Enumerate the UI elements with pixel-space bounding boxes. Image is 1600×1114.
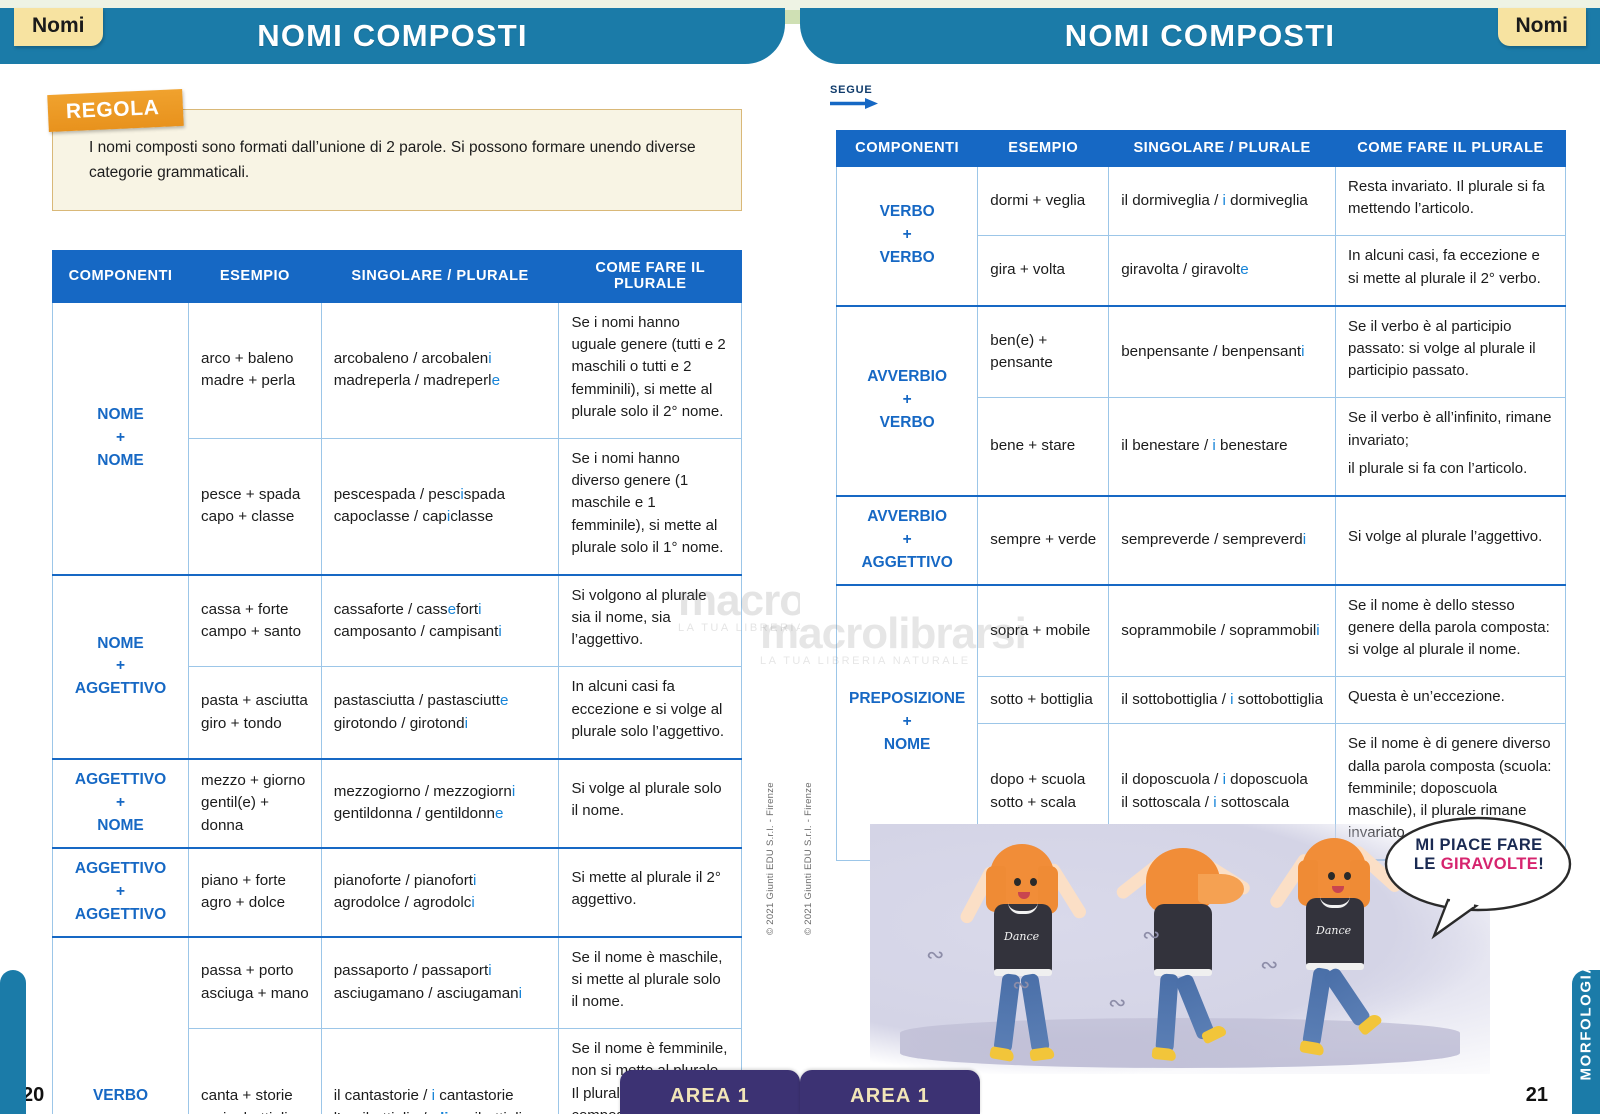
cell-singolare-plurale: sempreverde / sempreverdi	[1109, 496, 1336, 585]
shoe	[1299, 1040, 1325, 1056]
cell-come-fare-il-plurale: Se il nome è dello stesso genere della p…	[1336, 585, 1566, 677]
segue-label: SEGUE	[830, 84, 873, 96]
cell-come-fare-il-plurale: In alcuni casi fa eccezione e si volge a…	[559, 667, 742, 759]
cell-singolare-plurale: mezzogiorno / mezzogiornigentildonna / g…	[321, 759, 559, 848]
cell-singolare-plurale: il sottobottiglia / i sottobottiglia	[1109, 677, 1336, 724]
table-row: AVVERBIO+AGGETTIVOsempre + verdesempreve…	[837, 496, 1566, 585]
cell-esempio: gira + volta	[978, 236, 1109, 306]
motion-swirl-icon: ∾	[926, 942, 944, 968]
torso-shirt	[1154, 904, 1212, 976]
table-row: AGGETTIVO+AGGETTIVOpiano + forteagro + d…	[53, 848, 742, 937]
regola-badge: REGOLA	[47, 89, 184, 132]
cell-singolare-plurale: pescespada / pescispadacapoclasse / capi…	[321, 438, 559, 574]
edge-tab-morfologia[interactable]: MORFOLOGIA	[1572, 970, 1600, 1114]
cell-singolare-plurale: il benestare / i benestare	[1109, 398, 1336, 496]
cell-esempio: sopra + mobile	[978, 585, 1109, 677]
cell-esempio: ben(e) +pensante	[978, 306, 1109, 398]
cell-esempio: passa + portoasciuga + mano	[189, 937, 322, 1029]
cell-come-fare-il-plurale: Si volge al plurale solo il nome.	[559, 759, 742, 848]
cell-come-fare-il-plurale: Resta invariato. Il plurale si fa metten…	[1336, 166, 1566, 236]
cell-come-fare-il-plurale: Si volge al plurale l’aggettivo.	[1336, 496, 1566, 585]
regola-text: I nomi composti sono formati dall’unione…	[89, 136, 715, 186]
cell-singolare-plurale: passaporto / passaportiasciugamano / asc…	[321, 937, 559, 1029]
area-tab-left[interactable]: AREA 1	[620, 1070, 800, 1114]
leg	[1155, 973, 1178, 1052]
bubble-line-1: MI PIACE FARE	[1400, 836, 1558, 855]
leg	[1322, 966, 1372, 1027]
section-tab-nomi-left[interactable]: Nomi	[14, 8, 103, 46]
table-row: VERBO+NOMEpassa + portoasciuga + manopas…	[53, 937, 742, 1029]
col-componenti: COMPONENTI	[53, 251, 189, 303]
compound-nouns-table-right: COMPONENTI ESEMPIO SINGOLARE / PLURALE C…	[836, 130, 1566, 861]
edge-tab-left	[0, 970, 26, 1114]
eye	[1328, 872, 1335, 880]
cell-componenti: VERBO+VERBO	[837, 166, 978, 306]
page-number-right: 21	[1526, 1084, 1548, 1107]
cell-esempio: piano + forteagro + dolce	[189, 848, 322, 937]
area-tab-right[interactable]: AREA 1	[800, 1070, 980, 1114]
cell-come-fare-il-plurale: Si volgono al plurale sia il nome, sia l…	[559, 575, 742, 667]
col-esempio: ESEMPIO	[978, 131, 1109, 167]
page-title-left: NOMI COMPOSTI	[0, 8, 785, 64]
cell-esempio: sotto + bottiglia	[978, 677, 1109, 724]
page-title-right: NOMI COMPOSTI	[800, 8, 1600, 64]
cell-componenti: AVVERBIO+VERBO	[837, 306, 978, 496]
cell-esempio: pesce + spadacapo + classe	[189, 438, 322, 574]
hair-flying	[1198, 874, 1244, 904]
cell-esempio: cassa + fortecampo + santo	[189, 575, 322, 667]
bubble-line-2-suffix: !	[1538, 855, 1544, 873]
arrow-right-icon	[830, 97, 880, 110]
col-come-fare: COME FARE IL PLURALE	[1336, 131, 1566, 167]
col-come-fare: COME FARE IL PLURALE	[559, 251, 742, 303]
cell-singolare-plurale: arcobaleno / arcobalenimadreperla / madr…	[321, 302, 559, 438]
table-row: AGGETTIVO+NOMEmezzo + giornogentil(e) +d…	[53, 759, 742, 848]
col-singolare-plurale: SINGOLARE / PLURALE	[1109, 131, 1336, 167]
cell-come-fare-il-plurale: Se il nome è maschile, si mette al plura…	[559, 937, 742, 1029]
cell-esempio: canta + storieapri + bottigliespazza + n…	[189, 1029, 322, 1114]
cell-esempio: bene + stare	[978, 398, 1109, 496]
cell-esempio: dormi + veglia	[978, 166, 1109, 236]
table-row: NOME+NOMEarco + balenomadre + perlaarcob…	[53, 302, 742, 438]
copyright-left: © 2021 Giunti EDU S.r.l. - Firenze	[765, 782, 776, 935]
cell-come-fare-il-plurale: Se il verbo è all’infinito, rimane invar…	[1336, 398, 1566, 496]
col-esempio: ESEMPIO	[189, 251, 322, 303]
bubble-highlight-word: GIRAVOLTE	[1441, 855, 1538, 873]
eye	[1030, 878, 1037, 886]
cell-singolare-plurale: pianoforte / pianofortiagrodolce / agrod…	[321, 848, 559, 937]
speech-bubble-shape	[1380, 812, 1580, 942]
cell-componenti: AGGETTIVO+AGGETTIVO	[53, 848, 189, 937]
motion-swirl-icon: ∾	[1142, 922, 1160, 948]
cell-singolare-plurale: soprammobile / soprammobili	[1109, 585, 1336, 677]
cell-singolare-plurale: giravolta / giravolte	[1109, 236, 1336, 306]
header-bar-left: NOMI COMPOSTI	[0, 8, 785, 64]
cell-singolare-plurale: il dormiveglia / i dormiveglia	[1109, 166, 1336, 236]
cell-singolare-plurale: cassaforte / casseforticamposanto / camp…	[321, 575, 559, 667]
cell-esempio: arco + balenomadre + perla	[189, 302, 322, 438]
cell-come-fare-il-plurale: Se il verbo è al participio passato: si …	[1336, 306, 1566, 398]
segue-marker-right: SEGUE	[830, 84, 880, 110]
shoe	[1029, 1046, 1054, 1061]
shirt-text: Dance	[1316, 924, 1351, 937]
motion-swirl-icon: ∾	[1260, 952, 1278, 978]
left-page: REGOLA I nomi composti sono formati dall…	[0, 64, 800, 1114]
cell-singolare-plurale: benpensante / benpensanti	[1109, 306, 1336, 398]
cell-singolare-plurale: pastasciutta / pastasciuttegirotondo / g…	[321, 667, 559, 759]
dancing-girls-illustration: Dance	[860, 804, 1560, 1104]
cell-componenti: AGGETTIVO+NOME	[53, 759, 189, 848]
cell-come-fare-il-plurale: Se i nomi hanno diverso genere (1 maschi…	[559, 438, 742, 574]
eye	[1344, 872, 1351, 880]
motion-swirl-icon: ∾	[1012, 972, 1030, 998]
table-row: NOME+AGGETTIVOcassa + fortecampo + santo…	[53, 575, 742, 667]
col-singolare-plurale: SINGOLARE / PLURALE	[321, 251, 559, 303]
table-body-left: NOME+NOMEarco + balenomadre + perlaarcob…	[53, 302, 742, 1114]
cell-esempio: sempre + verde	[978, 496, 1109, 585]
regola-callout: REGOLA I nomi composti sono formati dall…	[52, 92, 742, 211]
table-header-row: COMPONENTI ESEMPIO SINGOLARE / PLURALE C…	[837, 131, 1566, 167]
cell-come-fare-il-plurale: Questa è un’eccezione.	[1336, 677, 1566, 724]
compound-nouns-table-left: COMPONENTI ESEMPIO SINGOLARE / PLURALE C…	[52, 250, 742, 1114]
cell-come-fare-il-plurale: In alcuni casi, fa eccezione e si mette …	[1336, 236, 1566, 306]
bubble-line-2-prefix: LE	[1414, 855, 1441, 873]
right-page: SEGUE COMPONENTI ESEMPIO SINGOLARE / PLU…	[800, 64, 1600, 1114]
table-row: PREPOSIZIONE+NOMEsopra + mobilesoprammob…	[837, 585, 1566, 677]
copyright-right: © 2021 Giunti EDU S.r.l. - Firenze	[803, 782, 814, 935]
table-header-row: COMPONENTI ESEMPIO SINGOLARE / PLURALE C…	[53, 251, 742, 303]
eye	[1014, 878, 1021, 886]
girl-figure-1: Dance	[968, 826, 1088, 1066]
bubble-line-2: LE GIRAVOLTE!	[1400, 855, 1558, 874]
table-row: AVVERBIO+VERBOben(e) +pensantebenpensant…	[837, 306, 1566, 398]
table-row: VERBO+VERBOdormi + vegliail dormiveglia …	[837, 166, 1566, 236]
speech-bubble-text: MI PIACE FARE LE GIRAVOLTE!	[1400, 836, 1558, 874]
cell-componenti: VERBO+NOME	[53, 937, 189, 1114]
cell-come-fare-il-plurale: Se i nomi hanno uguale genere (tutti e 2…	[559, 302, 742, 438]
cell-come-fare-il-plurale: Si mette al plurale il 2° aggettivo.	[559, 848, 742, 937]
cell-esempio: mezzo + giornogentil(e) +donna	[189, 759, 322, 848]
book-spread: NOMI COMPOSTI NOMI COMPOSTI Nomi Nomi RE…	[0, 0, 1600, 1114]
table-body-right: VERBO+VERBOdormi + vegliail dormiveglia …	[837, 166, 1566, 860]
cell-componenti: NOME+NOME	[53, 302, 189, 575]
col-componenti: COMPONENTI	[837, 131, 978, 167]
cell-esempio: pasta + asciuttagiro + tondo	[189, 667, 322, 759]
cell-componenti: AVVERBIO+AGGETTIVO	[837, 496, 978, 585]
cell-singolare-plurale: il cantastorie / i cantastoriel’apribott…	[321, 1029, 559, 1114]
edge-tab-label: MORFOLOGIA	[1578, 1053, 1595, 1081]
header-bar-right: NOMI COMPOSTI	[800, 8, 1600, 64]
shirt-text: Dance	[1004, 930, 1039, 943]
cell-componenti: NOME+AGGETTIVO	[53, 575, 189, 759]
motion-swirl-icon: ∾	[1108, 990, 1126, 1016]
section-tab-nomi-right[interactable]: Nomi	[1498, 8, 1587, 46]
